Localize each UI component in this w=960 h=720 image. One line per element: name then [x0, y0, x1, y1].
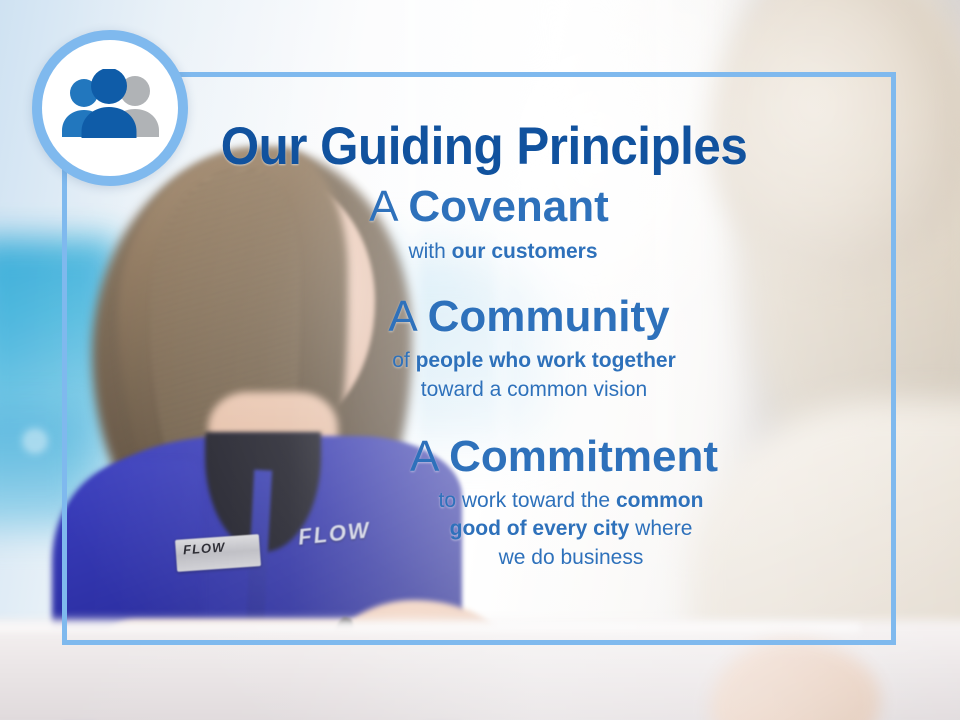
principle-headline: A Covenant [122, 184, 856, 231]
subtext-lead: with [408, 240, 451, 263]
subtext-emphasis: our customers [452, 240, 598, 263]
principle-keyword: Community [428, 292, 670, 341]
principle-article: A [410, 432, 449, 481]
principle-headline: A Commitment [272, 434, 856, 481]
principle-community: A Community of people who work together … [202, 294, 856, 404]
principle-subtext: of people who work together toward a com… [212, 347, 856, 403]
page-title: Our Guiding Principles [138, 120, 830, 174]
subtext-lead: to work toward the [439, 489, 616, 512]
principle-subtext: to work toward the common good of every … [286, 487, 856, 571]
subtext-emphasis-2: good of every city [450, 517, 630, 540]
subtext-emphasis: people who work together [416, 349, 676, 372]
subtext-tail: where [629, 517, 692, 540]
subtext-line2: toward a common vision [421, 378, 647, 401]
principle-keyword: Covenant [408, 182, 608, 231]
guiding-principles-graphic: FLOW FLOW Our Guidi [0, 0, 960, 720]
principle-covenant: A Covenant with our customers [122, 184, 856, 266]
principle-subtext: with our customers [150, 238, 856, 266]
principle-article: A [369, 182, 408, 231]
subtext-line3: we do business [499, 546, 644, 569]
principle-headline: A Community [202, 294, 856, 341]
principle-article: A [388, 292, 427, 341]
subtext-lead: of [392, 349, 415, 372]
principle-keyword: Commitment [449, 432, 718, 481]
principle-commitment: A Commitment to work toward the common g… [272, 434, 856, 572]
subtext-emphasis: common [616, 489, 704, 512]
text-content: Our Guiding Principles A Covenant with o… [62, 72, 896, 645]
